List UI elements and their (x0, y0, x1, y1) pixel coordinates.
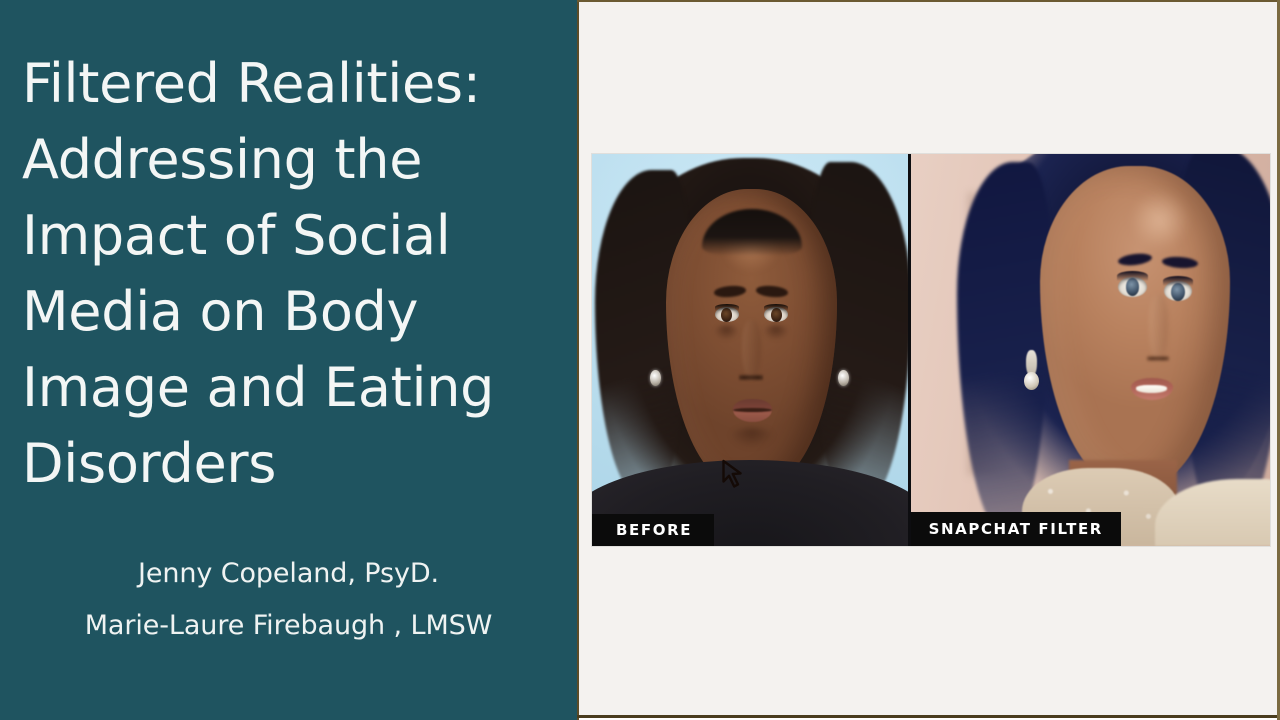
eyebrow-left (713, 285, 746, 298)
nose-filtered (1149, 294, 1168, 362)
chin-shadow (729, 428, 775, 449)
undereye-shadow-left (714, 325, 740, 340)
forehead-highlight-filtered (1131, 191, 1188, 249)
eyebrow-right-filtered (1162, 256, 1199, 269)
comparison-image: BEFORE (592, 154, 1270, 546)
author-name-2: Marie-Laure Firebaugh , LMSW (0, 600, 577, 652)
eyelash-left-filtered (1117, 271, 1148, 281)
panel-divider (577, 0, 579, 720)
eyebrow-right (756, 285, 789, 298)
title-panel: Filtered Realities: Addressing the Impac… (0, 0, 577, 720)
eye-right-filtered (1164, 281, 1193, 301)
frame-line-bottom (577, 715, 1280, 718)
eye-left (715, 307, 739, 322)
caption-snapchat-filter: SNAPCHAT FILTER (911, 512, 1121, 546)
earring-right (838, 370, 849, 386)
eyelash-left (715, 304, 739, 310)
caption-before: BEFORE (592, 514, 714, 546)
eye-right (764, 307, 788, 322)
eye-left-filtered (1118, 277, 1147, 297)
nose (742, 320, 761, 380)
author-name-1: Jenny Copeland, PsyD. (0, 548, 577, 600)
photo-snapchat-filter: SNAPCHAT FILTER (908, 154, 1270, 546)
eyelash-right (764, 304, 788, 310)
lip-line (733, 408, 772, 412)
title-block: Filtered Realities: Addressing the Impac… (22, 46, 567, 502)
page-title: Filtered Realities: Addressing the Impac… (22, 46, 567, 502)
earring-left (650, 370, 661, 386)
undereye-shadow-right (763, 325, 789, 340)
title-slide: Filtered Realities: Addressing the Impac… (0, 0, 1280, 720)
nostrils-filtered (1147, 354, 1170, 364)
teeth-filtered (1136, 385, 1166, 393)
photo-before: BEFORE (592, 154, 908, 546)
eyelash-right-filtered (1163, 276, 1194, 286)
frame-line-top (577, 0, 1280, 2)
author-block: Jenny Copeland, PsyD. Marie-Laure Fireba… (0, 548, 577, 652)
nostrils (739, 372, 763, 382)
eyebrow-left-filtered (1118, 252, 1153, 267)
earring-bead-filtered (1024, 372, 1039, 390)
hairline (702, 209, 803, 257)
